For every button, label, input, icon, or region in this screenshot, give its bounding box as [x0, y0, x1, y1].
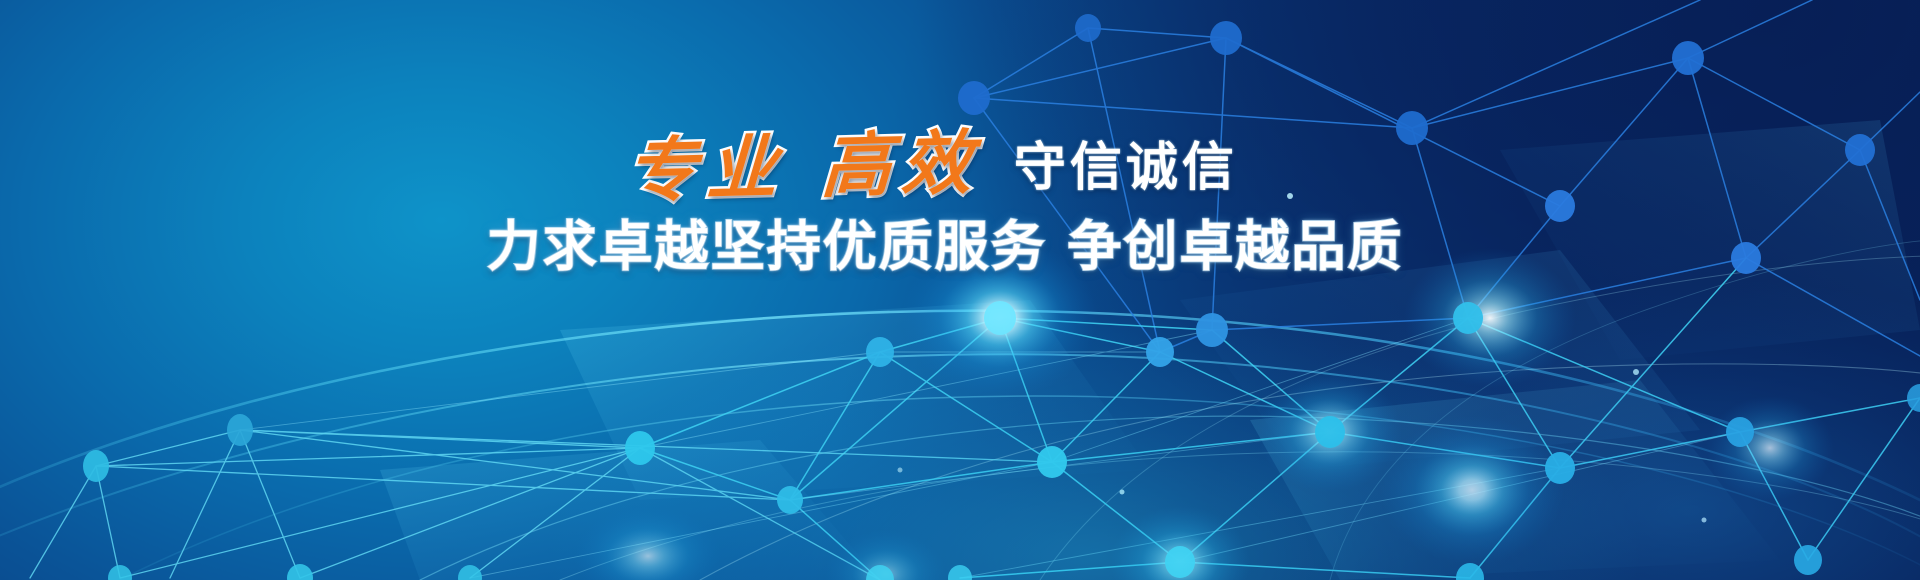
hero-banner: 专业 高效 守信诚信 力求卓越坚持优质服务 争创卓越品质 [0, 0, 1920, 580]
background-lower-glow [0, 0, 1920, 580]
